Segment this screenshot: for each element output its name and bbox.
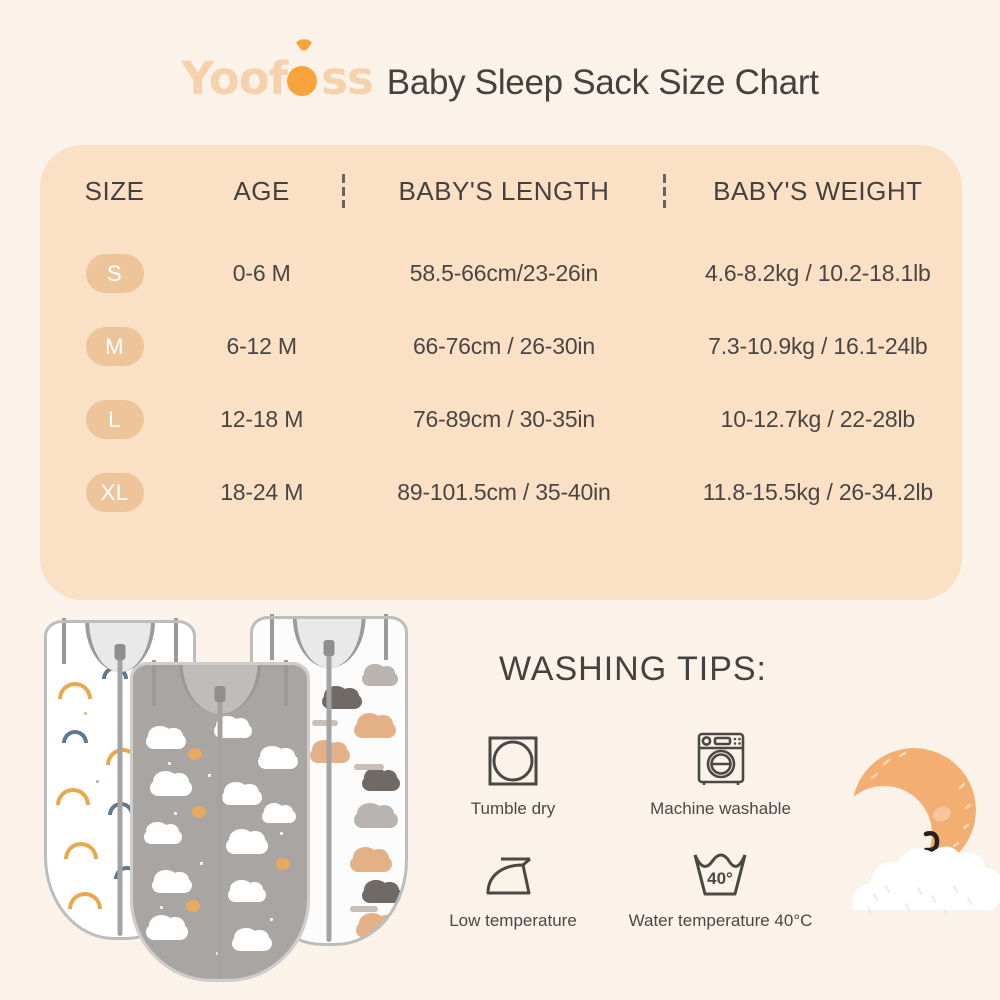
cell-weight: 7.3-10.9kg / 16.1-24lb (708, 333, 927, 359)
washing-tip-machine-washable: Machine washable (650, 729, 791, 819)
size-chart-card: SIZE AGE BABY'S LENGTH BABY'S WEIGHT S 0… (40, 145, 962, 600)
size-badge: M (86, 327, 144, 366)
table-header-row: SIZE AGE BABY'S LENGTH BABY'S WEIGHT (40, 145, 962, 237)
sun-disc (287, 66, 317, 96)
table-row: L 12-18 M 76-89cm / 30-35in 10-12.7kg / … (40, 383, 962, 456)
cell-age: 0-6 M (233, 260, 291, 286)
cell-weight: 11.8-15.5kg / 26-34.2lb (703, 479, 933, 505)
washing-tip-low-temperature: Low temperature (449, 841, 577, 931)
washing-tip-water-temperature: 40° Water temperature 40°C (629, 841, 813, 931)
column-header-age: AGE (233, 176, 289, 206)
table-row: XL 18-24 M 89-101.5cm / 35-40in 11.8-15.… (40, 456, 962, 529)
size-badge: S (86, 254, 144, 293)
washing-tip-label: Low temperature (449, 911, 577, 931)
cell-length: 66-76cm / 26-30in (413, 333, 595, 359)
cell-length: 89-101.5cm / 35-40in (397, 479, 610, 505)
sun-icon (287, 52, 321, 105)
washing-tip-label: Water temperature 40°C (629, 911, 813, 931)
sun-rays (287, 26, 321, 50)
washing-tip-tumble-dry: Tumble dry (471, 729, 555, 819)
washing-tip-label: Machine washable (650, 799, 791, 819)
washing-tips-title: WASHING TIPS: (418, 650, 848, 689)
table-row: M 6-12 M 66-76cm / 26-30in 7.3-10.9kg / … (40, 310, 962, 383)
water-temperature-40-icon: 40° (691, 841, 749, 899)
column-divider (663, 174, 666, 208)
page-title: Baby Sleep Sack Size Chart (387, 63, 819, 103)
brand-logo: Yoof ss (181, 52, 372, 105)
cell-age: 12-18 M (220, 406, 303, 432)
cell-age: 6-12 M (226, 333, 296, 359)
size-badge: XL (86, 473, 144, 512)
product-images (38, 612, 418, 962)
cell-age: 18-24 M (220, 479, 303, 505)
page-header: Yoof ss Baby Sleep Sack Size Chart (0, 52, 1000, 105)
table-row: S 0-6 M 58.5-66cm/23-26in 4.6-8.2kg / 10… (40, 237, 962, 310)
brand-logo-text-pre: Yoof (181, 52, 287, 105)
size-chart-page: Yoof ss Baby Sleep Sack Size Chart SIZE … (0, 0, 1000, 1000)
low-temperature-iron-icon (483, 841, 543, 899)
cell-weight: 10-12.7kg / 22-28lb (721, 406, 915, 432)
washing-tips-grid: Tumble dry (418, 729, 848, 931)
cell-weight: 4.6-8.2kg / 10.2-18.1lb (705, 260, 931, 286)
tumble-dry-icon (487, 729, 539, 787)
column-header-weight: BABY'S WEIGHT (713, 176, 922, 206)
moon-cloud-decoration (822, 722, 1000, 922)
column-header-size: SIZE (85, 176, 145, 206)
svg-text:40°: 40° (708, 869, 734, 888)
washing-tips-section: WASHING TIPS: Tumble dry (418, 650, 848, 931)
column-divider (342, 174, 345, 208)
cell-length: 76-89cm / 30-35in (413, 406, 595, 432)
machine-washable-icon (694, 729, 748, 787)
column-header-length: BABY'S LENGTH (399, 176, 610, 206)
washing-tip-label: Tumble dry (471, 799, 555, 819)
cell-length: 58.5-66cm/23-26in (410, 260, 598, 286)
size-badge: L (86, 400, 144, 439)
brand-logo-text-post: ss (321, 52, 373, 105)
sleep-sack-gray-cloud (130, 662, 310, 982)
size-chart-table: SIZE AGE BABY'S LENGTH BABY'S WEIGHT S 0… (40, 145, 962, 529)
